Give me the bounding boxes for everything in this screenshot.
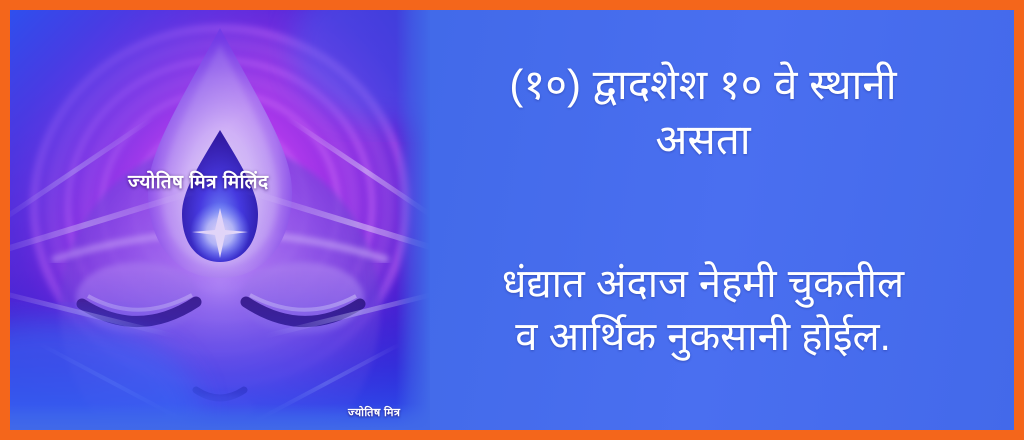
headline-line-1: (१०) द्वादशेश १० वे स्थानी bbox=[382, 58, 1024, 113]
headline: (१०) द्वादशेश १० वे स्थानी असता bbox=[382, 58, 1024, 167]
third-eye-meditation-image bbox=[10, 10, 430, 430]
body-copy: धंद्यात अंदाज नेहमी चुकतील व आर्थिक नुकस… bbox=[382, 258, 1024, 364]
copy-block: (१०) द्वादशेश १० वे स्थानी असता धंद्यात … bbox=[382, 10, 1024, 430]
headline-line-2: असता bbox=[382, 113, 1024, 168]
hero-artwork bbox=[10, 10, 430, 430]
body-line-2: व आर्थिक नुकसानी होईल. bbox=[382, 311, 1024, 364]
astrology-slide: ज्योतिष मित्र मिलिंद ज्योतिष मित्र (१०) … bbox=[0, 0, 1024, 440]
body-line-1: धंद्यात अंदाज नेहमी चुकतील bbox=[382, 258, 1024, 311]
